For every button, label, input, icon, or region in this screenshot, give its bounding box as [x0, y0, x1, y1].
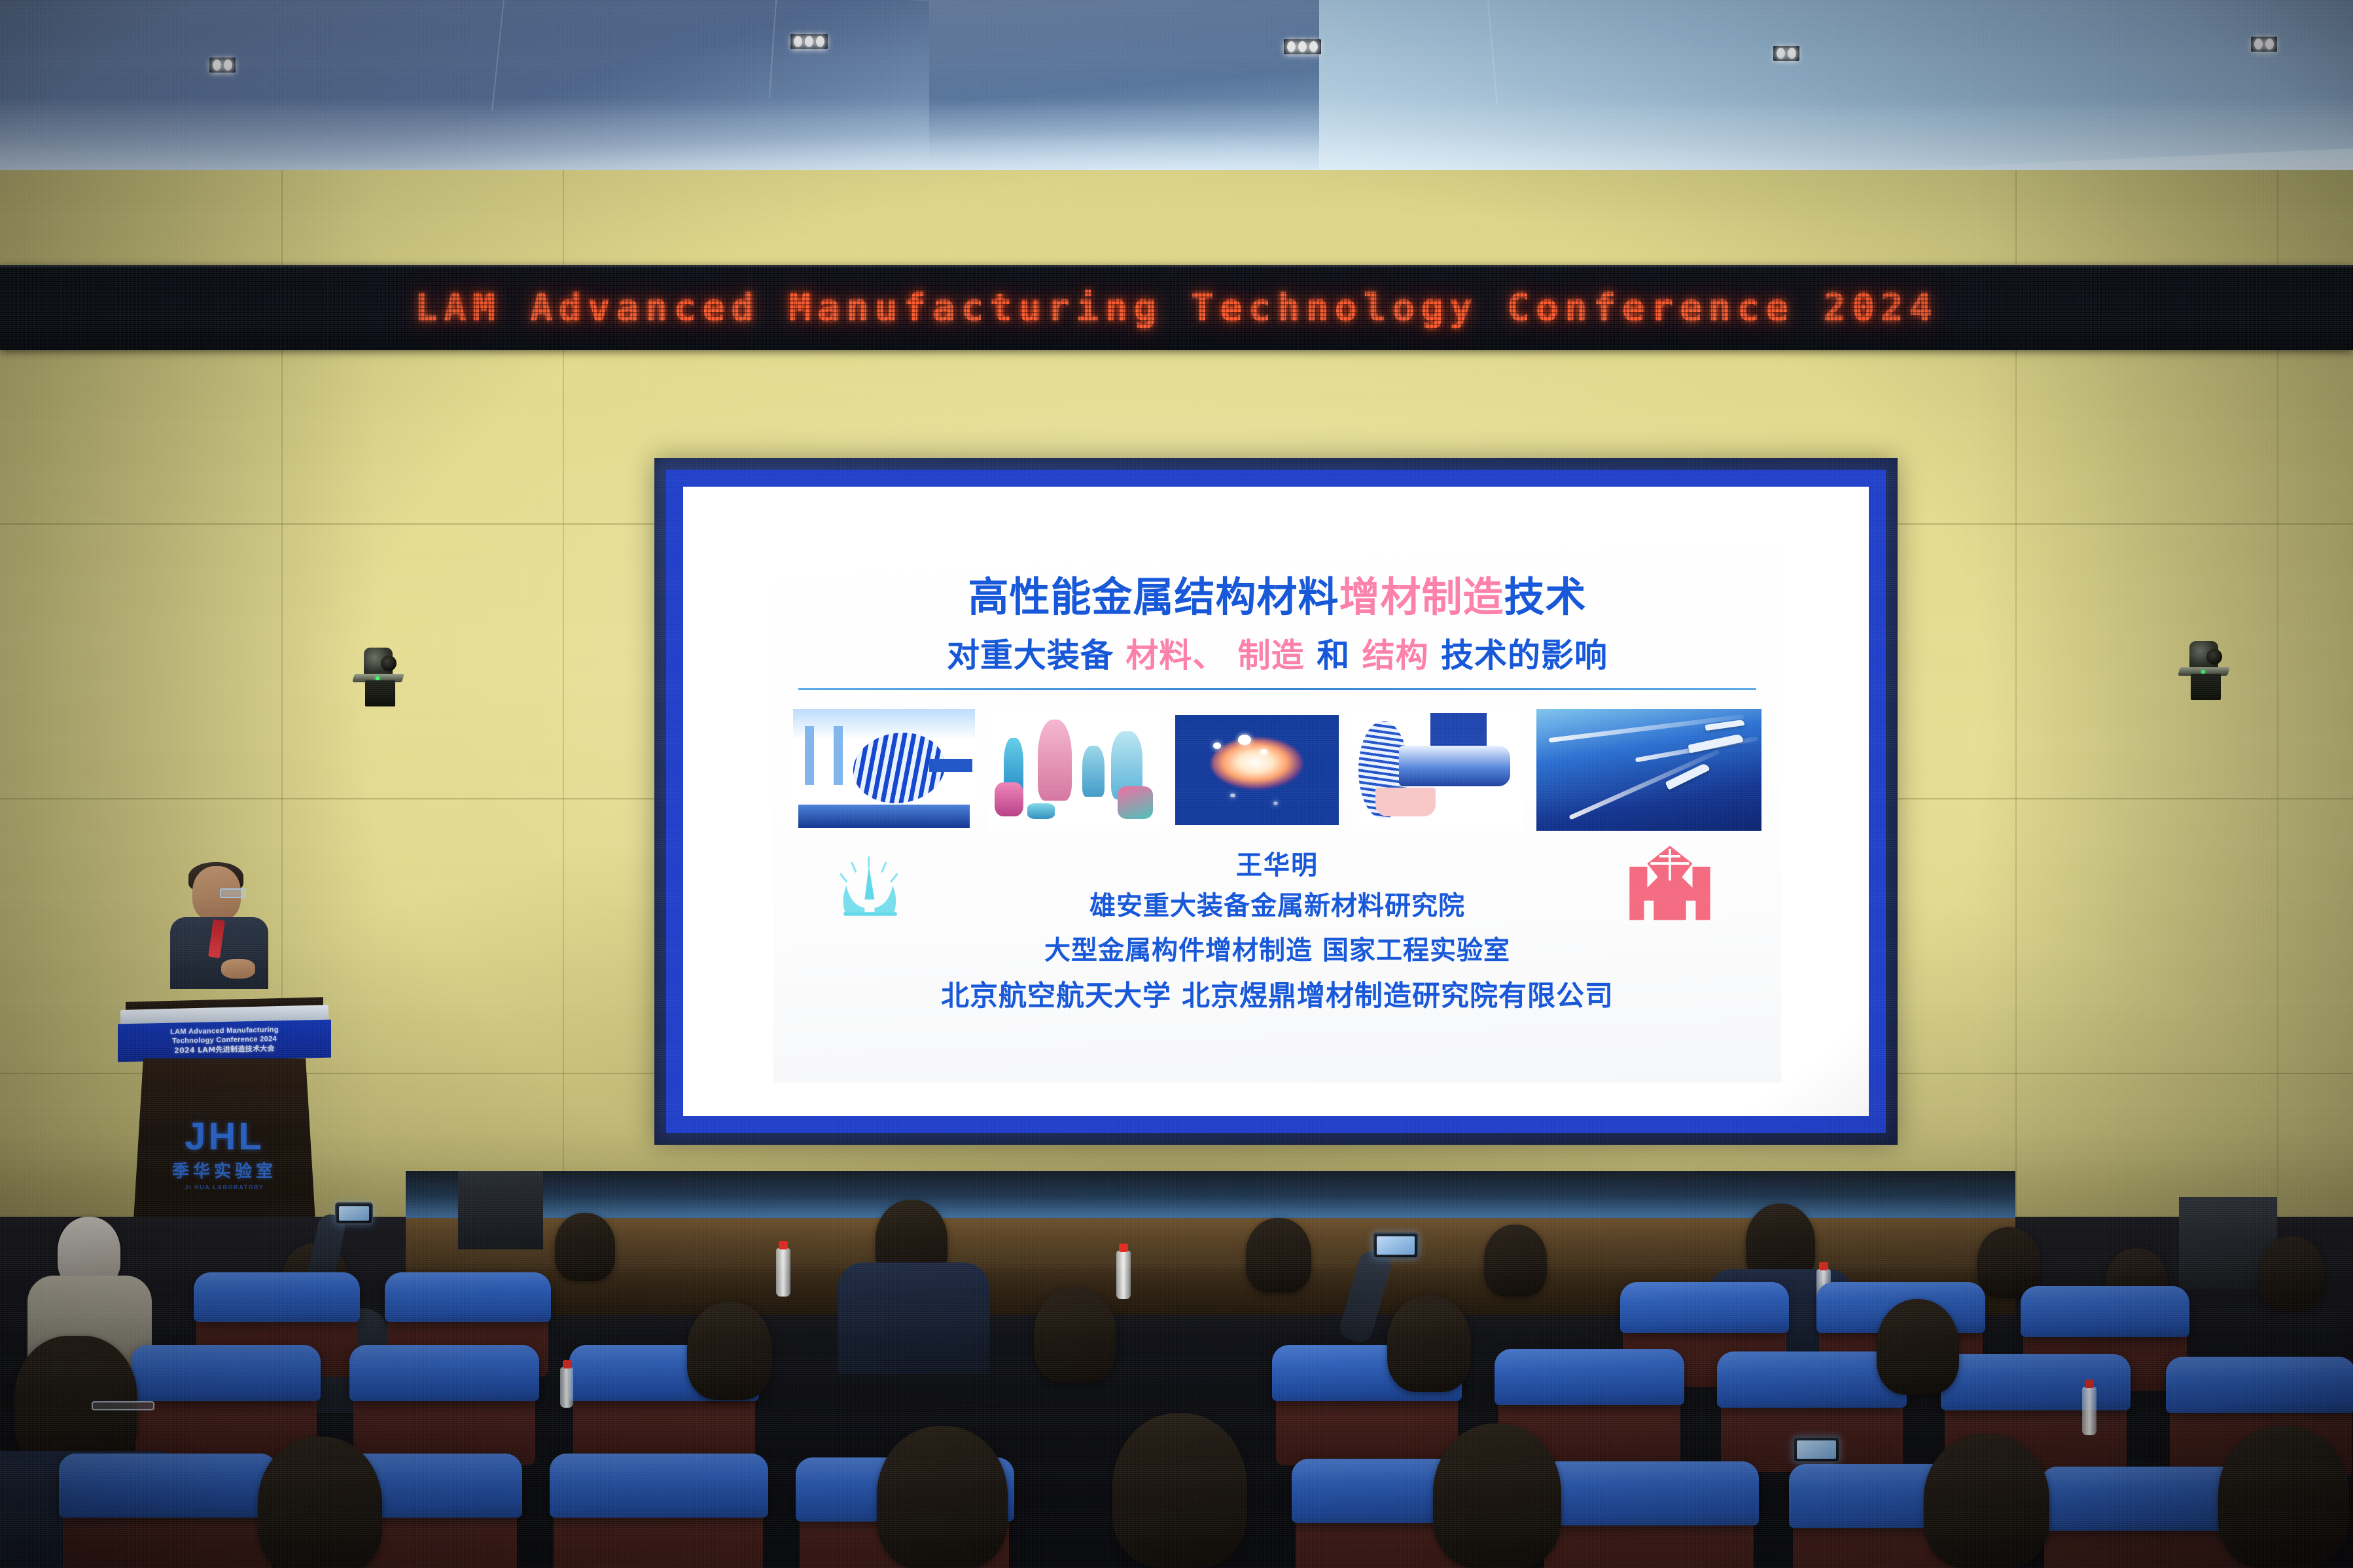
engine-core [1399, 746, 1510, 786]
camera-head-icon [2189, 641, 2218, 670]
auditorium-seat[interactable] [2166, 1357, 2353, 1413]
title-seg-3: 技术 [1504, 573, 1587, 621]
hall-column [805, 726, 814, 785]
downlight [1284, 39, 1321, 54]
spark [1260, 749, 1267, 755]
slide-affiliation-2: 大型金属构件增材制造 国家工程实验室 [773, 929, 1781, 967]
audience-head [877, 1426, 1008, 1568]
camera-head-icon [364, 648, 393, 676]
audience-head [1034, 1287, 1116, 1383]
auditorium-seat[interactable] [385, 1272, 551, 1322]
water-bottle [1116, 1251, 1131, 1299]
camera-bracket [365, 680, 395, 706]
audience-head [1246, 1218, 1311, 1293]
melt-pool-glow [1211, 738, 1303, 789]
spark [1273, 801, 1278, 805]
rotor-shaft [929, 759, 972, 772]
subtitle-seg-5: 结构 [1362, 636, 1441, 674]
title-seg-2: 增材制造 [1339, 573, 1504, 621]
auditorium-seat[interactable] [194, 1272, 360, 1322]
presenter-glasses [220, 888, 246, 898]
audience-head [1112, 1413, 1247, 1567]
rotor-stand [798, 805, 970, 828]
auditorium-seat[interactable] [550, 1454, 768, 1518]
eyeglasses [92, 1401, 154, 1410]
slide-title-line-2: 对重大装备 材料、 制造 和 结构 技术的影响 [773, 629, 1781, 676]
part-bracket [995, 782, 1023, 816]
presentation-slide: 高性能金属结构材料增材制造技术 对重大装备 材料、 制造 和 结构 技术的影响 [773, 523, 1781, 1083]
camera-bracket [2191, 674, 2221, 700]
audience-head [1433, 1423, 1561, 1568]
led-banner-text: LAM Advanced Manufacturing Technology Co… [0, 285, 2353, 330]
part-complex [1118, 786, 1153, 819]
slide-image-turbine-rotor [793, 709, 975, 831]
audience-head [1484, 1225, 1547, 1297]
subtitle-seg-6: 技术的影响 [1441, 636, 1608, 674]
auditorium-seat[interactable] [1941, 1354, 2131, 1410]
lectern-sign-line3: 2024 LAM先进制造技术大会 [174, 1044, 275, 1055]
subtitle-seg-2: 材料、 [1125, 636, 1237, 674]
slide-affiliation-3: 北京航空航天大学 北京煜鼎增材制造研究院有限公司 [773, 973, 1781, 1014]
camera-lens-icon [381, 655, 397, 671]
slide-author-name: 王华明 [773, 844, 1781, 882]
auditorium-seat[interactable] [349, 1345, 539, 1401]
auditorium-seat[interactable] [131, 1345, 321, 1401]
part-bar [1082, 746, 1105, 797]
auditorium-seat[interactable] [2021, 1286, 2189, 1337]
slide-image-strip [793, 708, 1761, 832]
ceiling [0, 0, 2353, 196]
downlight [790, 34, 828, 49]
ptz-camera-left [353, 648, 403, 708]
slide-title-line-1: 高性能金属结构材料增材制造技术 [773, 564, 1781, 623]
spark [1213, 742, 1221, 749]
slide-image-laser-deposition [1175, 715, 1339, 825]
auditorium-scene: LAM Advanced Manufacturing Technology Co… [0, 0, 2353, 1568]
auditorium-seat[interactable] [59, 1454, 277, 1518]
camera-lens-icon [2206, 649, 2222, 665]
auditorium-seat[interactable] [1495, 1349, 1684, 1405]
slide-divider [798, 688, 1756, 690]
title-seg-1: 高性能金属结构材料 [968, 573, 1339, 621]
water-bottle [2082, 1387, 2096, 1435]
audience-shoulders [838, 1263, 989, 1374]
part-plate [1027, 803, 1055, 819]
ptz-camera-right [2179, 641, 2229, 701]
auditorium-seat[interactable] [1620, 1282, 1789, 1333]
slide-image-aero-engine [1353, 709, 1522, 831]
engine-nozzle [1375, 788, 1436, 816]
audience-head [258, 1437, 382, 1568]
downlight [209, 58, 236, 73]
slide-image-powder-parts [989, 709, 1161, 831]
audience-head [2218, 1426, 2349, 1568]
auditorium-seat[interactable] [1540, 1461, 1759, 1525]
audience-head [1924, 1434, 2049, 1568]
factory-hall-bg [793, 709, 975, 739]
loudspeaker-left [458, 1171, 543, 1249]
audience-head [1387, 1295, 1471, 1392]
smartphone[interactable] [1793, 1437, 1840, 1463]
subtitle-seg-3: 制造 [1238, 636, 1317, 674]
slide-image-naval-vessels [1536, 709, 1761, 831]
spark [1238, 735, 1251, 745]
led-scrolling-banner: LAM Advanced Manufacturing Technology Co… [0, 265, 2353, 350]
audience-head [1877, 1299, 1959, 1395]
audience-head [2259, 1236, 2324, 1311]
smartphone[interactable] [1373, 1232, 1419, 1259]
engine-pylon [1430, 713, 1487, 748]
subtitle-seg-4: 和 [1317, 636, 1362, 674]
water-bottle [776, 1248, 790, 1297]
part-preform [1038, 720, 1072, 801]
hall-column [834, 726, 843, 785]
spark [1230, 793, 1235, 797]
subtitle-seg-1: 对重大装备 [947, 636, 1125, 674]
water-bottle [560, 1367, 573, 1408]
downlight [2251, 37, 2277, 52]
lectern-conference-sign: LAM Advanced Manufacturing Technology Co… [118, 1020, 331, 1062]
audience-head [687, 1302, 772, 1400]
audience-head [555, 1213, 615, 1281]
smartphone[interactable] [335, 1202, 373, 1225]
slide-affiliation-1: 雄安重大装备金属新材料研究院 [773, 884, 1781, 922]
downlight [1773, 46, 1799, 61]
